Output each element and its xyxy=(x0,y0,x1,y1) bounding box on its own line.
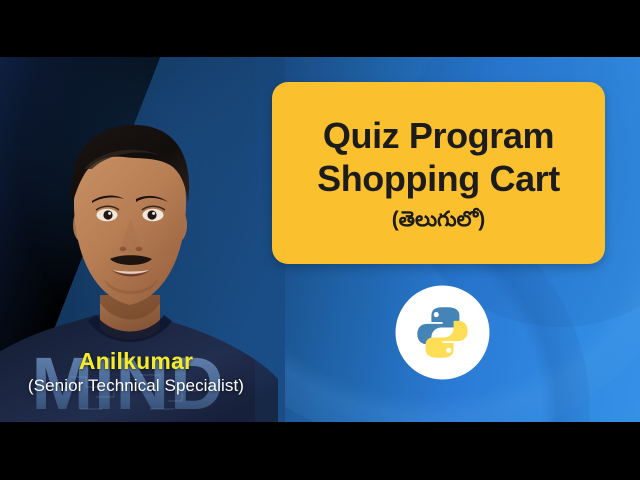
video-frame-screenshot: MIND xyxy=(0,0,640,480)
title-card: Quiz Program Shopping Cart (తెలుగులో) xyxy=(272,82,605,264)
background-watermark xyxy=(455,57,635,74)
presenter-name: Anilkumar xyxy=(0,347,272,375)
title-line-2: Shopping Cart xyxy=(317,157,560,200)
presenter-role: (Senior Technical Specialist) xyxy=(0,375,272,397)
letterbox-bar-bottom xyxy=(0,422,640,480)
title-line-1: Quiz Program xyxy=(323,114,554,157)
python-logo xyxy=(395,285,490,380)
letterbox-bar-top xyxy=(0,0,640,57)
title-subtitle-telugu: (తెలుగులో) xyxy=(392,207,486,233)
video-content-area: MIND xyxy=(0,57,640,422)
presenter-nameplate: Anilkumar (Senior Technical Specialist) xyxy=(0,347,272,397)
